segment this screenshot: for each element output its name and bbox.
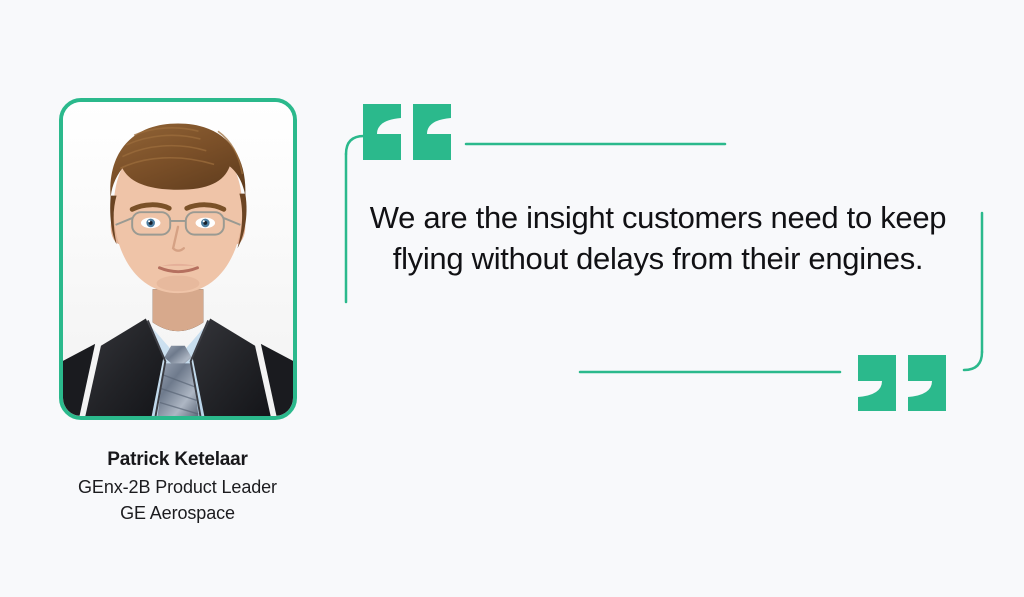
- attribution: Patrick Ketelaar GEnx-2B Product Leader …: [40, 446, 315, 527]
- person-name: Patrick Ketelaar: [40, 446, 315, 474]
- portrait-photo-frame: [59, 98, 297, 420]
- portrait-block: Patrick Ketelaar GEnx-2B Product Leader …: [40, 98, 315, 527]
- left-bracket-corner: [346, 136, 364, 154]
- right-bracket-corner: [964, 352, 982, 370]
- opening-quote-icon: [363, 104, 451, 160]
- person-role: GEnx-2B Product Leader: [40, 474, 315, 501]
- testimonial-card: Patrick Ketelaar GEnx-2B Product Leader …: [0, 0, 1024, 597]
- closing-quote-icon: [858, 355, 946, 411]
- portrait-photo: [63, 102, 293, 416]
- person-organization: GE Aerospace: [40, 500, 315, 527]
- quote-text: We are the insight customers need to kee…: [342, 198, 974, 280]
- quote-block: We are the insight customers need to kee…: [300, 90, 1000, 430]
